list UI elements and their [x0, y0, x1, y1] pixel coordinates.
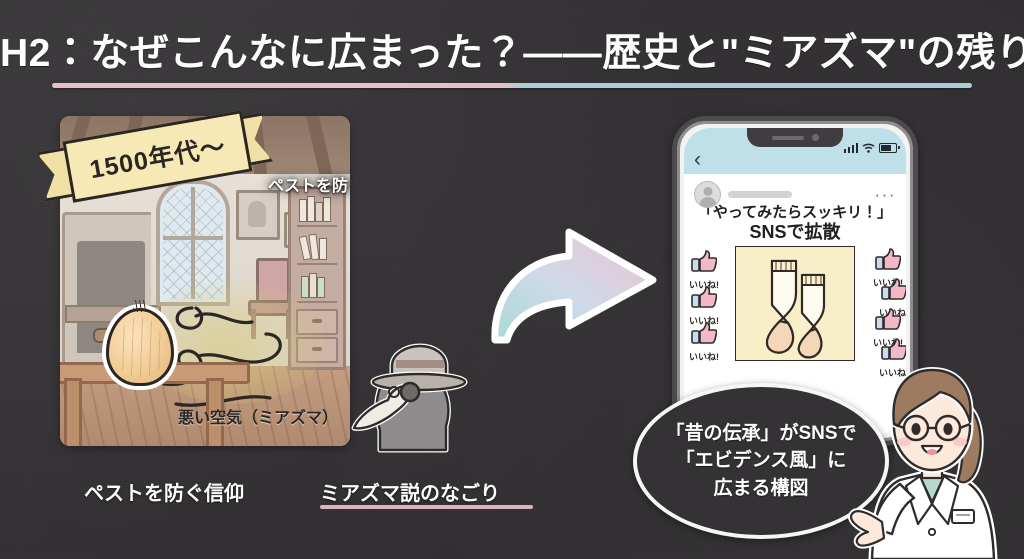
- bubble-line-3: 広まる構図: [665, 475, 856, 503]
- bubble-line-1: 「昔の伝承」がSNSで: [665, 420, 856, 448]
- doctor-character-icon: [848, 352, 1024, 559]
- more-options-icon[interactable]: ···: [875, 191, 896, 199]
- book: [301, 276, 309, 298]
- caption-underline: [320, 505, 533, 509]
- label-bad-air: 悪い空気（ミアズマ）: [178, 404, 338, 428]
- thumbs-up-icon: [875, 308, 901, 330]
- caption-miasma-remnant: ミアズマ説のなごり: [320, 477, 500, 506]
- title-underline: [52, 83, 972, 88]
- window-mullion: [191, 187, 195, 299]
- thumbs-up-icon: [881, 278, 906, 300]
- book: [315, 202, 323, 222]
- back-chevron-icon[interactable]: ‹: [694, 149, 701, 170]
- shelf-row: [297, 233, 337, 265]
- bookshelf: [288, 186, 346, 370]
- flow-arrow-icon: [487, 218, 663, 346]
- label-pest-belief: ペストを防ぐ信仰: [268, 172, 350, 196]
- arched-window: [156, 180, 230, 306]
- like-badge: いいね!: [684, 250, 725, 291]
- window-rail: [163, 236, 223, 240]
- like-badge: いいね!: [684, 286, 725, 327]
- post-image-socks[interactable]: [735, 246, 855, 361]
- wall-portrait: [236, 190, 280, 240]
- slide-canvas: H2：なぜこんなに広まった？——歴史と"ミアズマ"の残り香: [0, 0, 1024, 559]
- book: [299, 199, 307, 222]
- post-caption-line2: SNSで拡散: [684, 222, 906, 243]
- front-camera: [812, 134, 819, 141]
- avatar[interactable]: [694, 181, 721, 208]
- signal-bars-icon: [844, 143, 859, 153]
- username-placeholder: [728, 191, 792, 198]
- thumbs-up-icon: [875, 248, 901, 270]
- shelf-row: [297, 195, 337, 227]
- post-body: いいね! いいね! いいね!: [684, 246, 906, 366]
- thumbs-up-icon: [691, 322, 717, 344]
- phone-notch: [747, 128, 843, 147]
- shelf-row: [297, 271, 337, 303]
- book: [319, 238, 327, 260]
- post-caption: 「やってみたらスッキリ！」 SNSで拡散: [684, 204, 906, 243]
- caption-pest-belief: ペストを防ぐ信仰: [84, 477, 244, 506]
- table-leg: [64, 378, 82, 446]
- earpiece-speaker: [772, 136, 804, 140]
- title-block: H2：なぜこんなに広まった？——歴史と"ミアズマ"の残り香: [0, 22, 1024, 78]
- shelf-drawer: [296, 337, 338, 363]
- book: [309, 273, 317, 298]
- wifi-icon: [862, 143, 875, 153]
- speech-bubble-text: 「昔の伝承」がSNSで 「エビデンス風」に 広まる構図: [665, 420, 856, 503]
- onion-sprout: [133, 300, 147, 312]
- battery-icon: [879, 143, 897, 153]
- book: [317, 277, 325, 298]
- socks-illustration: [736, 247, 854, 360]
- bubble-line-2: 「エビデンス風」に: [665, 447, 856, 475]
- like-badge: いいね!: [684, 322, 725, 363]
- thumbs-up-icon: [691, 286, 717, 308]
- like-label: いいね!: [684, 350, 725, 363]
- book: [323, 197, 331, 222]
- ceiling-beam: [306, 116, 333, 178]
- book: [307, 196, 315, 222]
- chair-leg: [251, 309, 256, 339]
- post-caption-line1: 「やってみたらスッキリ！」: [684, 204, 906, 222]
- thumbs-up-icon: [691, 250, 717, 272]
- plague-doctor-icon: [340, 330, 480, 455]
- page-title: H2：なぜこんなに広まった？——歴史と"ミアズマ"の残り香: [0, 22, 1024, 78]
- status-icons: [844, 143, 898, 153]
- ribbon-label: 1500年代〜: [87, 127, 229, 186]
- shelf-drawer: [296, 309, 338, 335]
